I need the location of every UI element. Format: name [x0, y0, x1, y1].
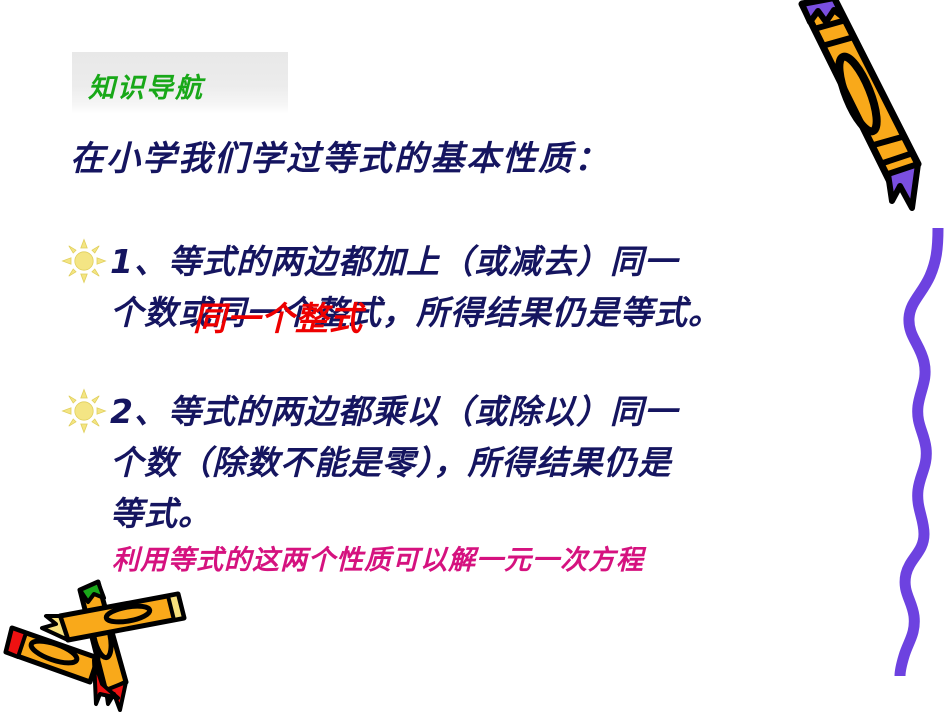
purple-squiggle-icon: [876, 228, 950, 676]
slide-canvas: 知识导航 在小学我们学过等式的基本性质： 1、等式的两边都加上（或减去）同一 个…: [0, 0, 950, 713]
property-2-text: 2、等式的两边都乘以（或除以）同一 个数（除数不能是零），所得结果仍是 等式。: [110, 386, 678, 539]
section-title-label: 知识导航: [88, 66, 204, 105]
property-1-line-1: 1、等式的两边都加上（或减去）同一: [110, 236, 722, 287]
red-annotation-text: 同一个整式: [193, 292, 363, 340]
sun-icon: [61, 238, 107, 284]
property-2-line-3: 等式。: [110, 488, 678, 539]
crossed-crayons-icon: [2, 572, 202, 713]
page-title: 在小学我们学过等式的基本性质：: [70, 131, 610, 180]
sun-icon: [61, 388, 107, 434]
property-2-line-1: 2、等式的两边都乘以（或除以）同一: [110, 386, 678, 437]
orange-crayon-icon: [792, 0, 942, 211]
property-2-line-2: 个数（除数不能是零），所得结果仍是: [110, 437, 678, 488]
